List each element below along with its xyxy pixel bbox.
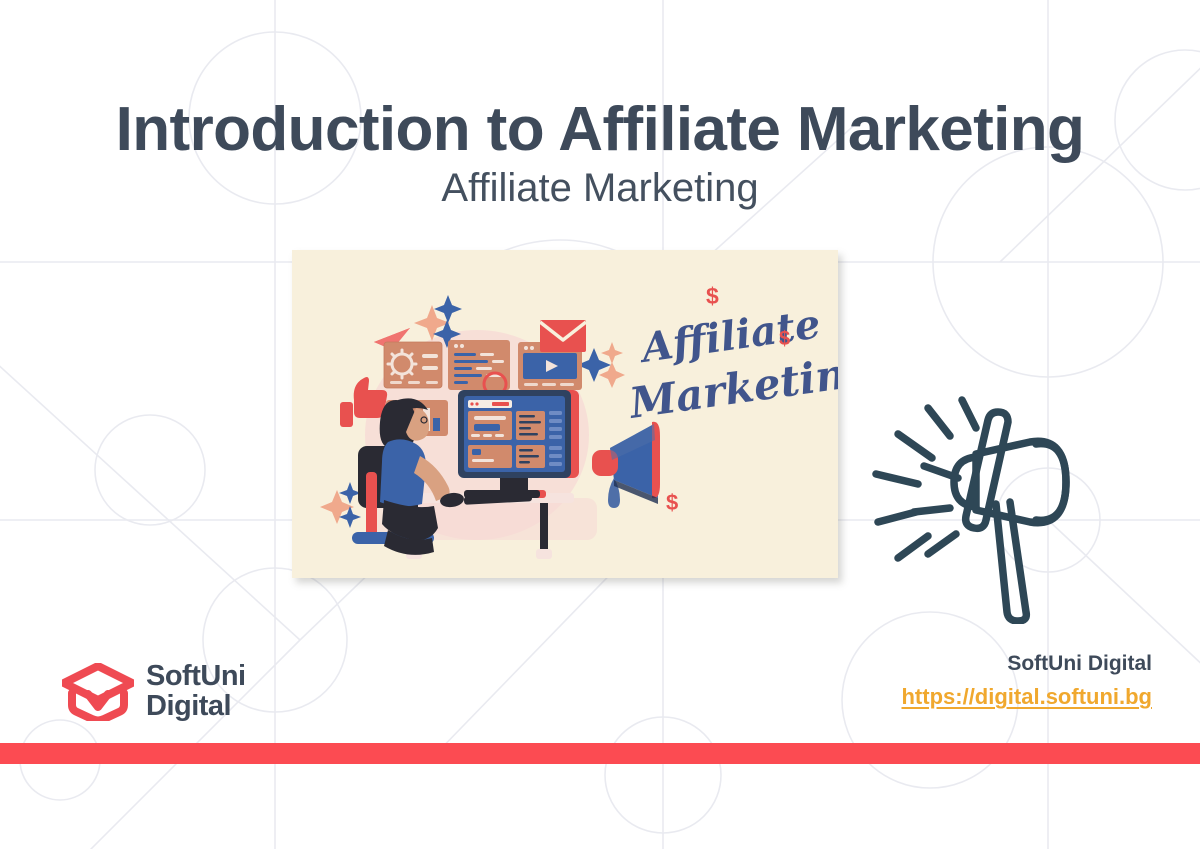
megaphone-outline-icon	[858, 362, 1110, 624]
bottom-accent-bar	[0, 743, 1200, 764]
page-title: Introduction to Affiliate Marketing	[0, 98, 1200, 161]
dollar-sign: $	[706, 283, 719, 309]
footer-organization: SoftUni Digital	[732, 651, 1152, 676]
footer-website-link[interactable]: https://digital.softuni.bg	[901, 684, 1152, 710]
affiliate-marketing-illustration: Affiliate Marketing $ $ $	[292, 250, 838, 578]
card-settings	[384, 342, 442, 388]
softuni-digital-logo[interactable]: SoftUni Digital	[62, 662, 246, 721]
title-block: Introduction to Affiliate Marketing Affi…	[0, 98, 1200, 209]
graduation-cap-icon	[62, 663, 134, 721]
logo-wordmark: SoftUni Digital	[146, 662, 246, 721]
logo-line-2: Digital	[146, 692, 246, 722]
page-subtitle: Affiliate Marketing	[0, 167, 1200, 209]
footer-right: SoftUni Digital https://digital.softuni.…	[732, 651, 1152, 710]
dollar-sign: $	[779, 328, 790, 350]
slide-root: Introduction to Affiliate Marketing Affi…	[0, 0, 1200, 849]
logo-line-1: SoftUni	[146, 662, 246, 692]
dollar-sign: $	[666, 490, 678, 515]
envelope-icon	[540, 320, 586, 352]
